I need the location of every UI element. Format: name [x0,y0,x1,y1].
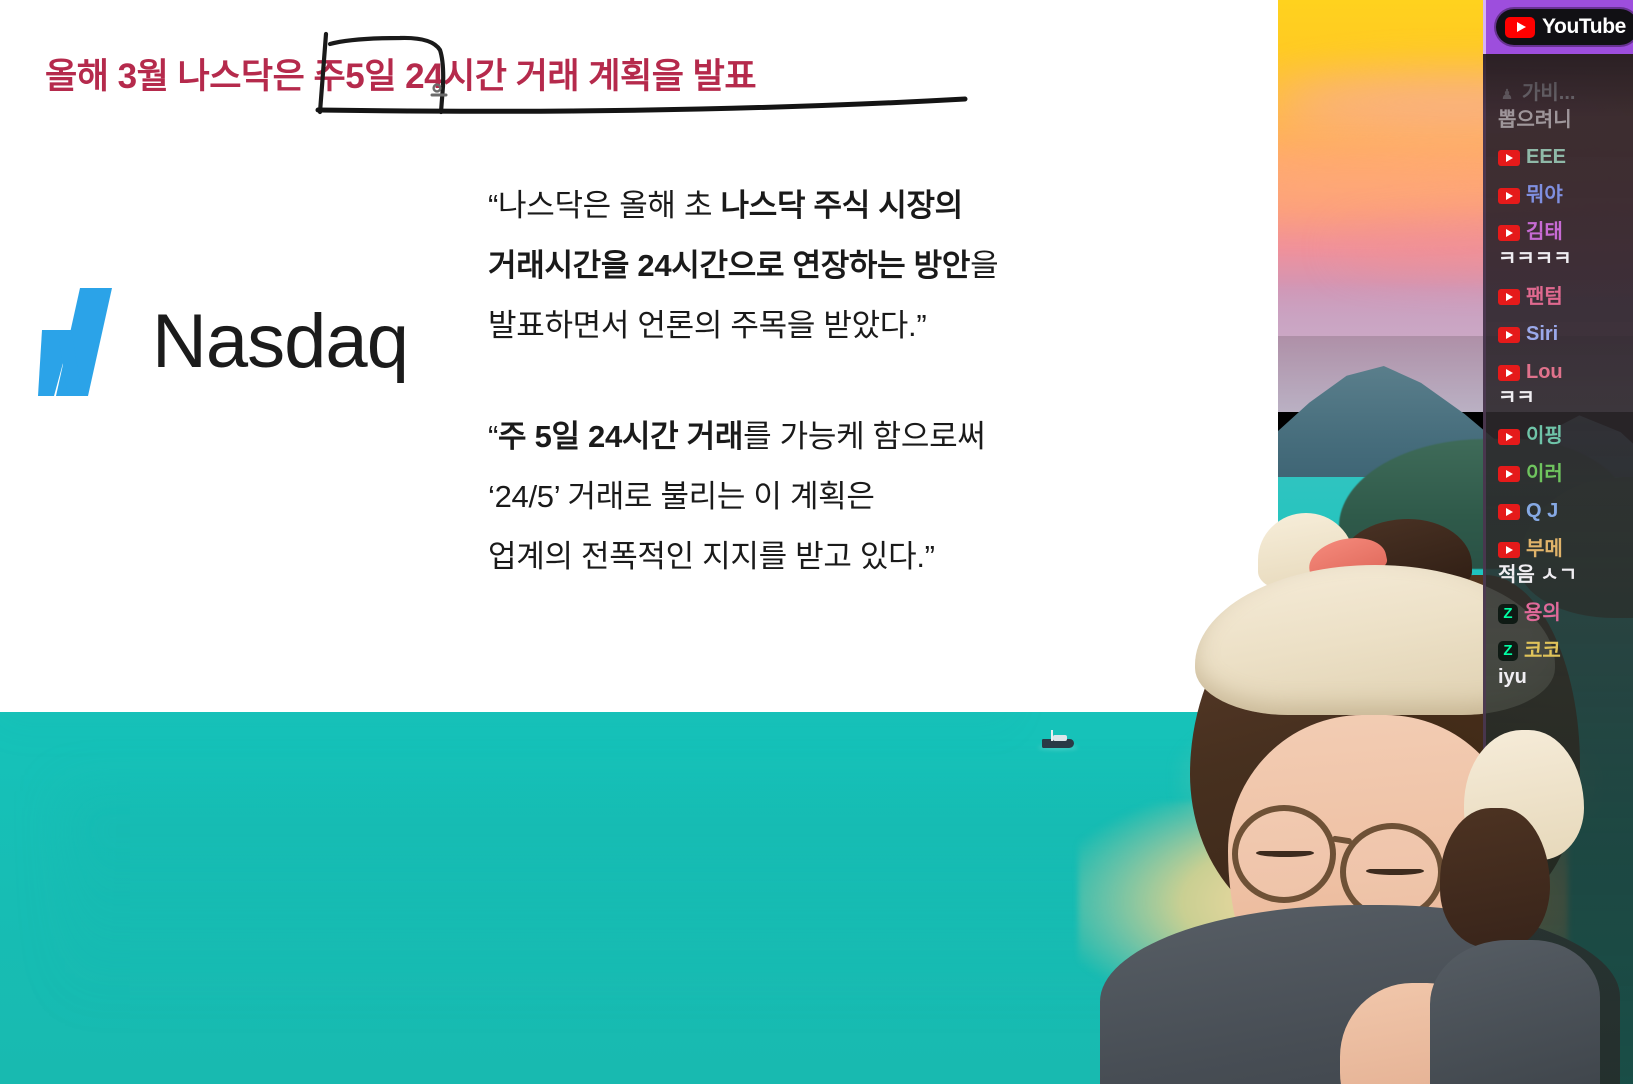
eye-left [1256,849,1314,857]
chat-message-list[interactable]: ♟가비...뽑으려니EEE뭐야김태ㅋㅋㅋㅋ팬텀SiriLouㅋㅋ이핑이러Q J부… [1483,54,1633,1084]
chat-message[interactable]: Siri [1498,323,1633,347]
chat-message-header: EEE [1498,146,1633,170]
quote-paragraph-1: “나스닥은 올해 초 나스닥 주식 시장의 거래시간을 24시간으로 연장하는 … [488,176,1188,355]
chat-message-header: Siri [1498,323,1633,347]
chat-username[interactable]: 코코 [1524,640,1561,664]
streamer-webcam [1040,505,1560,1084]
chat-username[interactable]: 이러 [1526,463,1563,487]
chat-message-header: 팬텀 [1498,286,1633,310]
youtube-badge-icon [1498,327,1520,343]
youtube-label: YouTube [1542,15,1626,39]
chat-username[interactable]: 김태 [1526,221,1563,245]
youtube-badge-icon [1498,188,1520,204]
youtube-badge: YouTube [1496,9,1633,45]
chat-message-header: Z용의 [1498,602,1633,626]
youtube-badge-icon [1498,466,1520,482]
chat-username[interactable]: 팬텀 [1526,286,1563,310]
quote-line: “주 5일 24시간 거래를 가능케 함으로써 [488,407,1188,467]
page-title: 올해 3월 나스닥은 주5일 24시간 거래 계획을 발표 [45,48,756,99]
chat-message[interactable]: 팬텀 [1498,286,1633,310]
chat-message-header: 뭐야 [1498,184,1633,208]
quote-line: “나스닥은 올해 초 나스닥 주식 시장의 [488,176,1188,236]
chat-message[interactable]: Louㅋㅋ [1498,361,1633,411]
chat-message[interactable]: Z용의 [1498,602,1633,626]
chat-message-text: ㅋㅋ [1498,387,1633,411]
chat-username[interactable]: Lou [1526,361,1563,385]
chat-message-header: 부메 [1498,538,1633,562]
handwritten-annotation [0,0,1278,200]
chat-message[interactable]: 뭐야 [1498,184,1633,208]
chat-message[interactable]: 김태ㅋㅋㅋㅋ [1498,221,1633,271]
youtube-badge-icon [1498,542,1520,558]
youtube-badge-icon [1498,289,1520,305]
chat-message[interactable]: 부메적음 ㅅㄱ [1498,538,1633,588]
chat-username[interactable]: 가비... [1522,82,1575,106]
quote-line: 거래시간을 24시간으로 연장하는 방안을 [488,236,1188,296]
chat-username[interactable]: Siri [1526,323,1558,347]
chat-message-text: 적음 ㅅㄱ [1498,564,1633,588]
chat-username[interactable]: EEE [1526,146,1566,170]
quote-line: 발표하면서 언론의 주목을 받았다.” [488,296,1188,356]
chat-username[interactable]: 용의 [1524,602,1561,626]
chat-header: YouTube [1483,0,1633,54]
stream-screen: 올해 3월 나스닥은 주5일 24시간 거래 계획을 발표 Nasdaq “나스… [0,0,1633,1084]
nasdaq-logo: Nasdaq [38,288,408,396]
chat-message[interactable]: 이핑 [1498,425,1633,449]
chat-username[interactable]: 뭐야 [1526,184,1563,208]
user-badge-icon: ♟ [1498,85,1516,103]
youtube-badge-icon [1498,225,1520,241]
nasdaq-wordmark: Nasdaq [152,304,408,380]
chat-message-text: iyu [1498,666,1633,690]
chat-message-header: Lou [1498,361,1633,385]
chzzk-badge-icon: Z [1498,604,1518,624]
eye-right [1366,867,1424,875]
chat-message[interactable]: Z코코iyu [1498,640,1633,690]
chat-message-header: ♟가비... [1498,82,1633,106]
chat-message-header: Z코코 [1498,640,1633,664]
chat-message-header: 김태 [1498,221,1633,245]
youtube-badge-icon [1498,504,1520,520]
youtube-badge-icon [1498,150,1520,166]
nasdaq-n-mark [38,288,130,396]
chat-message-text: ㅋㅋㅋㅋ [1498,248,1633,272]
chat-message[interactable]: EEE [1498,146,1633,170]
chzzk-badge-icon: Z [1498,641,1518,661]
chat-message[interactable]: 이러 [1498,463,1633,487]
annotation-underline-stroke [318,99,965,111]
chat-message-text: 뽑으려니 [1498,109,1633,133]
chat-message[interactable]: ♟가비...뽑으려니 [1498,82,1633,132]
chat-message-header: 이러 [1498,463,1633,487]
chat-message-header: Q J [1498,500,1633,524]
chat-username[interactable]: Q J [1526,500,1558,524]
chat-sidebar[interactable]: YouTube ♟가비...뽑으려니EEE뭐야김태ㅋㅋㅋㅋ팬텀SiriLouㅋㅋ… [1483,0,1633,1084]
chat-message-header: 이핑 [1498,425,1633,449]
youtube-icon [1505,17,1535,38]
chat-username[interactable]: 부메 [1526,538,1563,562]
youtube-badge-icon [1498,429,1520,445]
chat-message[interactable]: Q J [1498,500,1633,524]
chat-username[interactable]: 이핑 [1526,425,1563,449]
youtube-badge-icon [1498,365,1520,381]
